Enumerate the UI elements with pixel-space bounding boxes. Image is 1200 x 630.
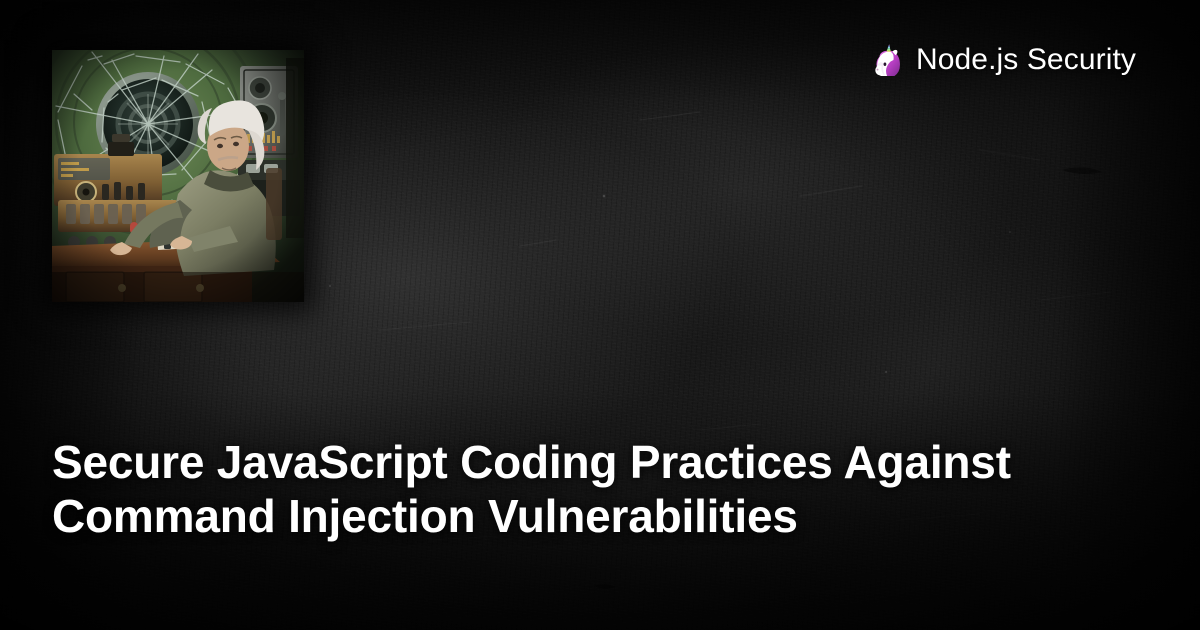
post-thumbnail [52, 50, 304, 302]
brand-name: Node.js Security [916, 45, 1136, 75]
page-title-line-2: Command Injection Vulnerabilities [52, 489, 1062, 543]
page-title-line-1: Secure JavaScript Coding Practices Again… [52, 435, 1062, 489]
unicorn-icon [869, 43, 903, 77]
page-title: Secure JavaScript Coding Practices Again… [52, 435, 1062, 543]
thumbnail-illustration [52, 50, 304, 302]
brand-logo[interactable]: Node.js Security [869, 43, 1136, 77]
social-preview-card: Node.js Security Secure JavaScript Codin… [0, 0, 1200, 630]
